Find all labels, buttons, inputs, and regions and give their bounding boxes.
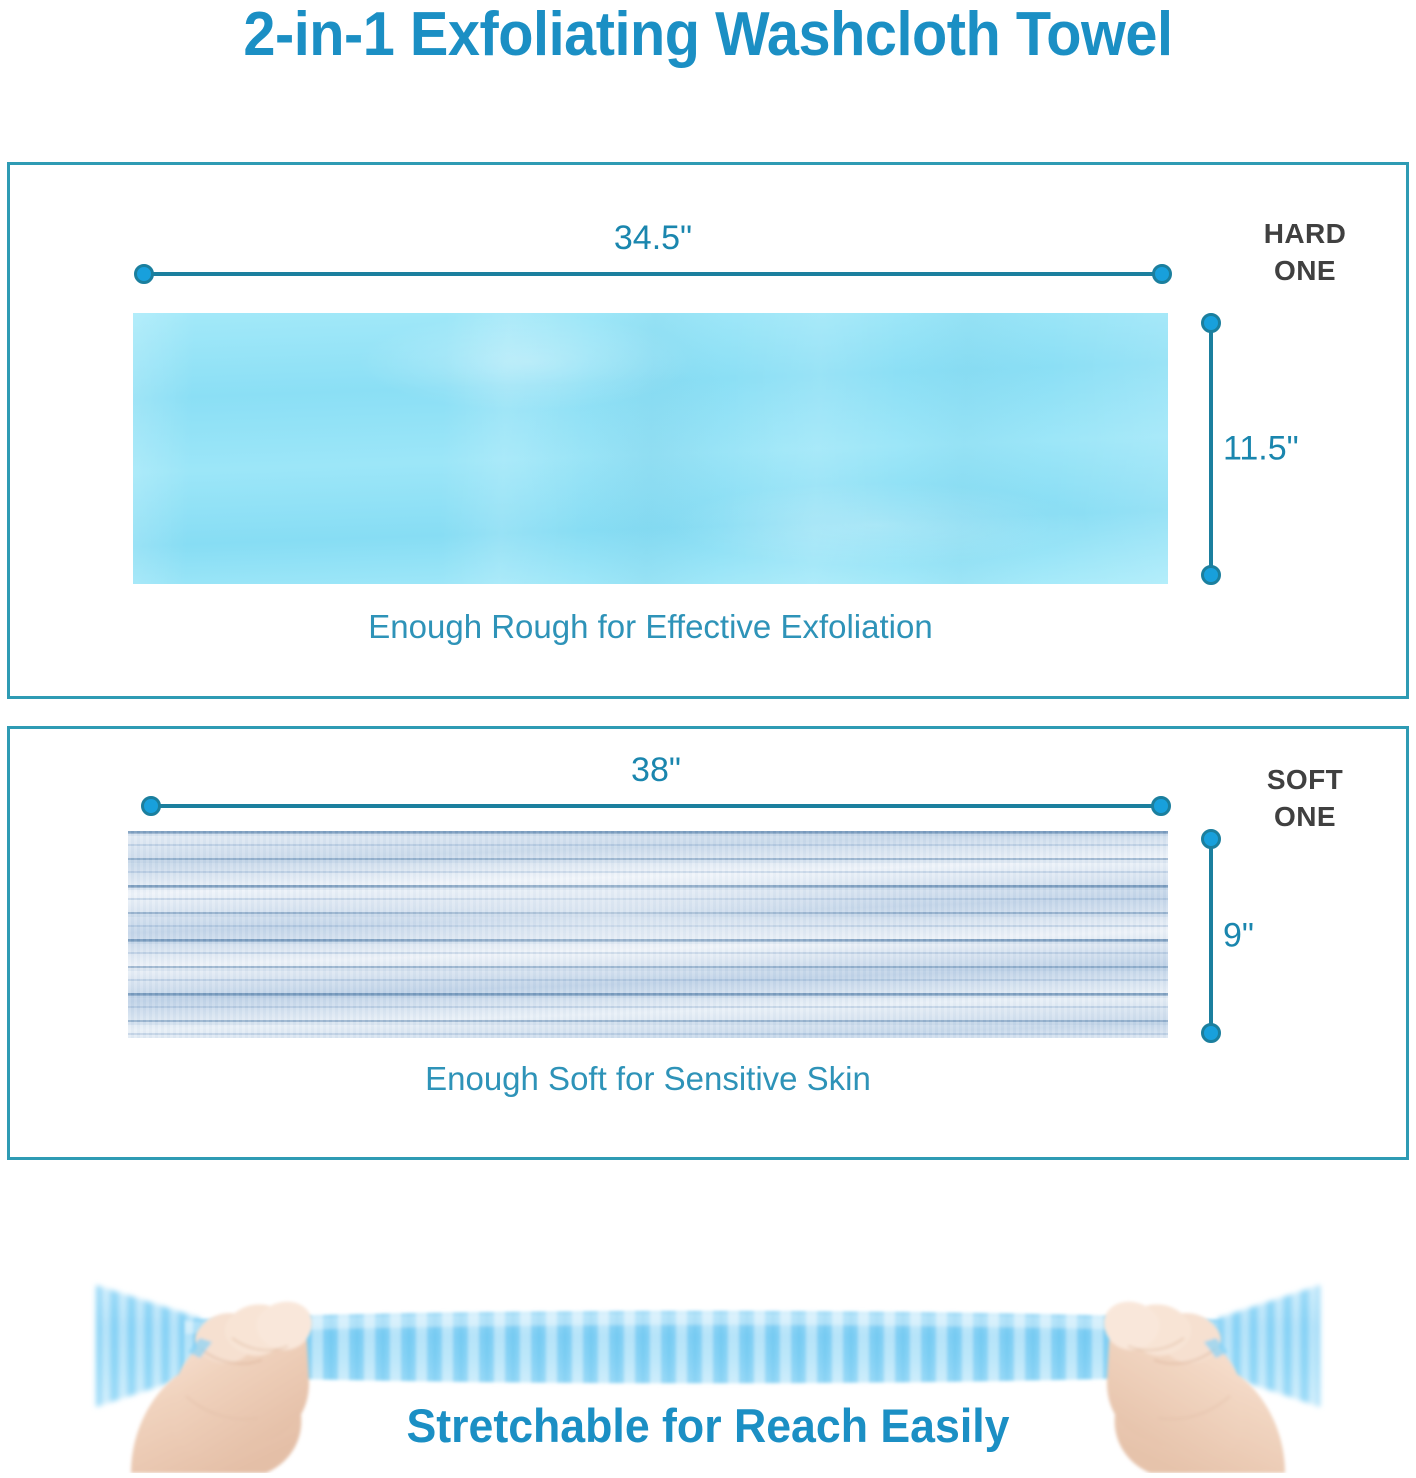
category-label-soft: SOFT ONE <box>1215 762 1395 836</box>
dimension-width-label-soft: 38" <box>150 751 1162 790</box>
dimension-height-label-soft: 9" <box>1223 917 1254 956</box>
towel-image-soft <box>128 831 1168 1038</box>
page-title: 2-in-1 Exfoliating Washcloth Towel <box>50 2 1367 67</box>
dimension-endpoint-dot-bottom <box>1201 1023 1221 1043</box>
towel-caption-soft: Enough Soft for Sensitive Skin <box>128 1060 1168 1098</box>
category-label-hard: HARD ONE <box>1215 216 1395 290</box>
dimension-endpoint-dot-top <box>1201 313 1221 333</box>
dimension-endpoint-dot-right <box>1152 264 1172 284</box>
category-label-soft-line1: SOFT <box>1215 762 1395 799</box>
towel-stretched-band <box>185 1311 1225 1383</box>
towel-caption-hard: Enough Rough for Effective Exfoliation <box>133 608 1168 646</box>
dimension-endpoint-dot-left <box>141 796 161 816</box>
dimension-line-horizontal <box>143 272 1163 276</box>
dimension-endpoint-dot-left <box>134 264 154 284</box>
dimension-width-label-hard: 34.5" <box>143 219 1163 258</box>
category-label-hard-line1: HARD <box>1215 216 1395 253</box>
dimension-endpoint-dot-bottom <box>1201 565 1221 585</box>
dimension-endpoint-dot-right <box>1151 796 1171 816</box>
dimension-height-label-hard: 11.5" <box>1223 430 1299 469</box>
dimension-line-vertical <box>1209 838 1213 1034</box>
towel-image-hard <box>133 313 1168 584</box>
dimension-line-horizontal <box>150 804 1162 808</box>
dimension-endpoint-dot-top <box>1201 829 1221 849</box>
category-label-soft-line2: ONE <box>1215 799 1395 836</box>
category-label-hard-line2: ONE <box>1215 253 1395 290</box>
dimension-line-vertical <box>1209 322 1213 576</box>
stretch-caption: Stretchable for Reach Easily <box>35 1398 1380 1453</box>
